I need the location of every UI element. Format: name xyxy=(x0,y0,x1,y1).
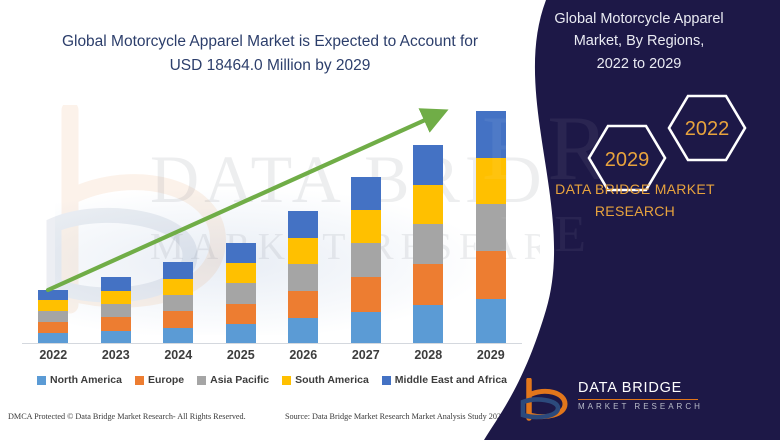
source-note: Source: Data Bridge Market Research Mark… xyxy=(285,412,505,421)
legend-swatch xyxy=(282,376,291,385)
bar-segment-south-america xyxy=(38,300,68,311)
bar-segment-europe xyxy=(226,304,256,325)
bar-segment-north-america xyxy=(226,324,256,343)
hexagon-2022-badge: 2022 xyxy=(669,96,745,160)
bar-segment-south-america xyxy=(226,263,256,283)
x-axis-label: 2024 xyxy=(150,348,206,362)
logo-subtitle: MARKET RESEARCH xyxy=(578,402,703,411)
bar-segment-north-america xyxy=(413,305,443,343)
legend-label: Asia Pacific xyxy=(210,374,269,386)
brand-name: DATA BRIDGE MARKET RESEARCH xyxy=(510,178,760,223)
page-title: Global Motorcycle Apparel Market is Expe… xyxy=(30,30,510,77)
bar-segment-asia-pacific xyxy=(226,283,256,303)
bar-column xyxy=(88,96,144,343)
bar-segment-north-america xyxy=(288,318,318,343)
bar-segment-europe xyxy=(101,317,131,331)
bar-segment-south-america xyxy=(101,291,131,304)
panel-title-line-1: Global Motorcycle Apparel xyxy=(554,11,723,27)
bar-segment-europe xyxy=(163,311,193,328)
x-axis-label: 2028 xyxy=(400,348,456,362)
legend-item[interactable]: North America xyxy=(37,374,122,386)
bar-group xyxy=(22,96,522,343)
bar-segment-asia-pacific xyxy=(163,295,193,312)
legend-label: Europe xyxy=(148,374,184,386)
bar-column xyxy=(400,96,456,343)
bar-segment-asia-pacific xyxy=(413,224,443,264)
stacked-bar xyxy=(163,262,193,343)
bar-segment-south-america xyxy=(288,238,318,264)
stacked-bar xyxy=(351,177,381,343)
bar-segment-north-america xyxy=(101,331,131,343)
logo-b-mark xyxy=(520,378,568,422)
legend-item[interactable]: Europe xyxy=(135,374,184,386)
bar-segment-asia-pacific xyxy=(101,304,131,317)
logo-divider xyxy=(578,399,698,400)
headline-line-1: Global Motorcycle Apparel Market is Expe… xyxy=(62,33,478,50)
bar-segment-europe xyxy=(38,322,68,333)
branding-content: BR ME Global Motorcycle Apparel Market, … xyxy=(480,0,780,440)
bar-segment-middle-east-and-africa xyxy=(38,290,68,301)
copyright-notice: DMCA Protected © Data Bridge Market Rese… xyxy=(8,412,246,421)
bar-segment-middle-east-and-africa xyxy=(413,145,443,185)
bar-segment-south-america xyxy=(351,210,381,243)
legend-item[interactable]: Asia Pacific xyxy=(197,374,269,386)
logo-title: DATA BRIDGE xyxy=(578,380,682,396)
legend-swatch xyxy=(37,376,46,385)
bar-segment-south-america xyxy=(413,185,443,224)
bar-column xyxy=(25,96,81,343)
bar-segment-asia-pacific xyxy=(351,243,381,277)
panel-title-line-2: Market, By Regions, xyxy=(574,33,705,49)
stacked-bar xyxy=(38,290,68,343)
x-axis-label: 2026 xyxy=(275,348,331,362)
bar-segment-europe xyxy=(288,291,318,318)
x-axis-label: 2025 xyxy=(213,348,269,362)
hexagon-2022-label: 2022 xyxy=(685,118,730,140)
x-axis-label: 2023 xyxy=(88,348,144,362)
bar-segment-middle-east-and-africa xyxy=(288,211,318,238)
chart-plot-area xyxy=(22,96,522,344)
bar-segment-north-america xyxy=(38,333,68,343)
panel-title: Global Motorcycle Apparel Market, By Reg… xyxy=(514,8,764,75)
x-axis-labels: 20222023202420252026202720282029 xyxy=(22,348,522,362)
footer: DMCA Protected © Data Bridge Market Rese… xyxy=(0,412,540,432)
brand-line-1: DATA BRIDGE MARKET xyxy=(555,181,715,197)
branding-panel: BR ME Global Motorcycle Apparel Market, … xyxy=(480,0,780,440)
bar-segment-asia-pacific xyxy=(288,264,318,291)
bar-column xyxy=(275,96,331,343)
x-axis-line xyxy=(22,343,522,344)
panel-title-line-3: 2022 to 2029 xyxy=(597,56,682,72)
bar-segment-south-america xyxy=(163,279,193,295)
company-logo: DATA BRIDGE MARKET RESEARCH xyxy=(520,378,730,424)
x-axis-label: 2022 xyxy=(25,348,81,362)
bar-segment-asia-pacific xyxy=(38,311,68,322)
bar-segment-north-america xyxy=(163,328,193,343)
legend-swatch xyxy=(135,376,144,385)
stacked-bar xyxy=(413,145,443,343)
bar-column xyxy=(150,96,206,343)
legend-swatch xyxy=(197,376,206,385)
hexagon-2029-label: 2029 xyxy=(605,149,650,171)
stacked-bar xyxy=(101,277,131,343)
stacked-bar xyxy=(288,211,318,343)
legend-swatch xyxy=(382,376,391,385)
bar-segment-middle-east-and-africa xyxy=(226,243,256,263)
infographic-root: DATA BRIDGE MARKET RESEARCH Global Motor… xyxy=(0,0,780,440)
bar-column xyxy=(213,96,269,343)
stacked-bar-chart xyxy=(22,96,522,346)
bar-segment-north-america xyxy=(351,312,381,343)
bar-segment-europe xyxy=(351,277,381,311)
bar-segment-middle-east-and-africa xyxy=(101,277,131,290)
legend-label: North America xyxy=(50,374,122,386)
legend-item[interactable]: South America xyxy=(282,374,369,386)
brand-line-2: RESEARCH xyxy=(595,203,675,219)
headline-line-2: USD 18464.0 Million by 2029 xyxy=(170,57,371,74)
legend-label: South America xyxy=(295,374,369,386)
stacked-bar xyxy=(226,243,256,343)
bar-segment-europe xyxy=(413,264,443,305)
bar-segment-middle-east-and-africa xyxy=(163,262,193,278)
bar-segment-middle-east-and-africa xyxy=(351,177,381,210)
bar-column xyxy=(338,96,394,343)
chart-legend: North AmericaEuropeAsia PacificSouth Ame… xyxy=(22,374,522,386)
chart-panel: DATA BRIDGE MARKET RESEARCH Global Motor… xyxy=(0,0,540,440)
x-axis-label: 2027 xyxy=(338,348,394,362)
